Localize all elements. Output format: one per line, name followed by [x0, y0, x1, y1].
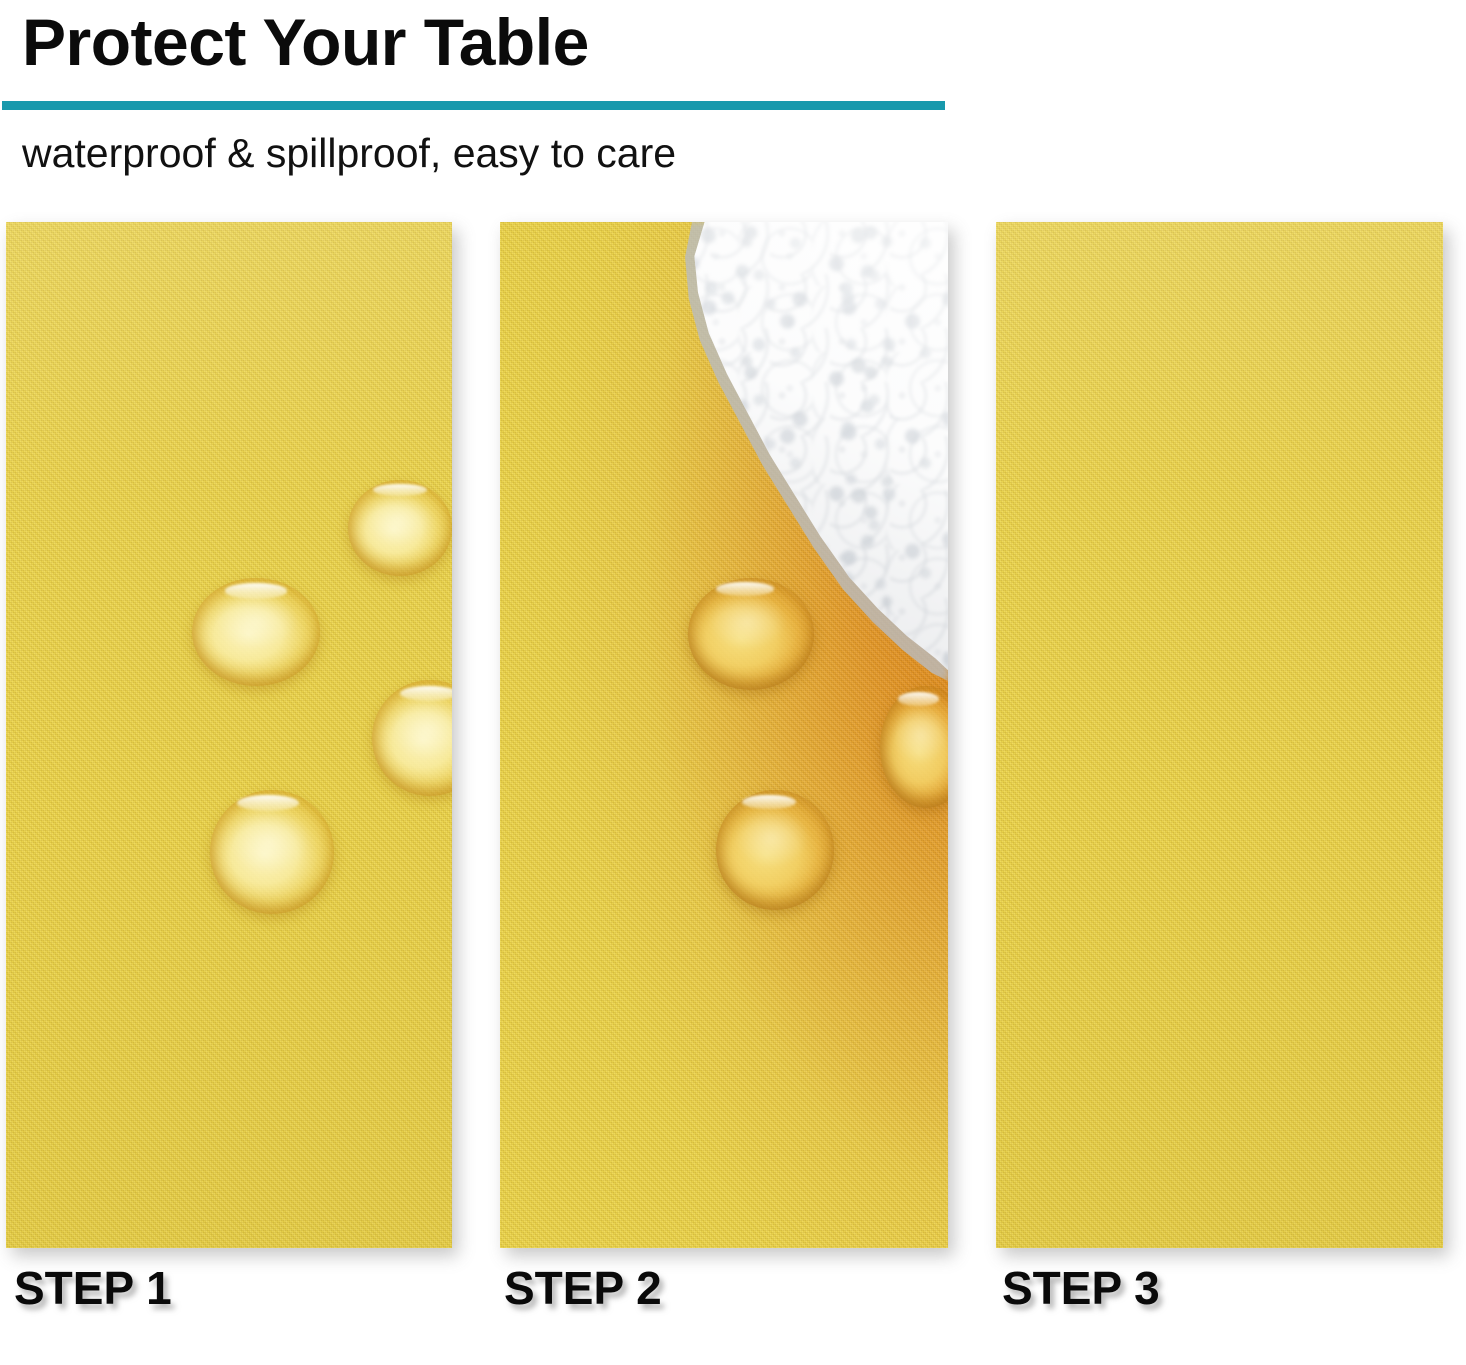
step-1-label: STEP 1: [14, 1258, 172, 1318]
water-droplet: [716, 790, 834, 910]
fabric-lighting: [996, 222, 1443, 1248]
product-infographic: Protect Your Table waterproof & spillpro…: [0, 0, 1466, 1365]
water-droplet: [192, 578, 320, 686]
step-3-label: STEP 3: [1002, 1258, 1160, 1318]
water-droplet: [348, 480, 452, 576]
steps-image-row: [0, 222, 1466, 1248]
step-2-image: [500, 222, 948, 1248]
page-title: Protect Your Table: [22, 4, 589, 80]
title-divider: [2, 101, 945, 110]
step-3-image: [996, 222, 1443, 1248]
water-droplet: [210, 790, 334, 914]
step-2-label: STEP 2: [504, 1258, 662, 1318]
step-1-image: [6, 222, 452, 1248]
step-labels-row: STEP 1 STEP 2 STEP 3: [0, 1258, 1466, 1348]
water-droplet: [688, 578, 814, 690]
page-subtitle: waterproof & spillproof, easy to care: [22, 127, 676, 179]
